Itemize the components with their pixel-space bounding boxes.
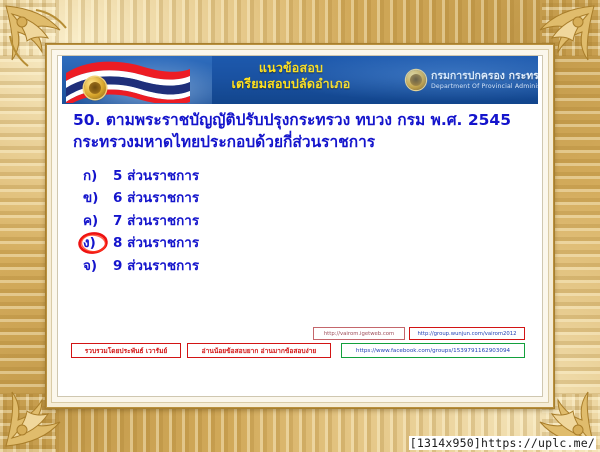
answer-choice-key: ข) xyxy=(83,192,103,206)
answer-choice-key: จ) xyxy=(83,260,103,274)
answer-choice-label: 7 ส่วนราชการ xyxy=(113,215,199,229)
department-seal-icon xyxy=(406,70,426,90)
thai-flag-icon xyxy=(64,57,192,103)
department-name-english: Department Of Provincial Administration xyxy=(431,83,538,90)
link-box-website[interactable]: http://vairom.igetweb.com xyxy=(313,327,405,340)
answer-choice[interactable]: จ) 9 ส่วนราชการ xyxy=(83,255,513,278)
answer-choice[interactable]: ก) 5 ส่วนราชการ xyxy=(83,165,513,188)
answer-choice-list: ก) 5 ส่วนราชการ ข) 6 ส่วนราชการ ค) 7 ส่ว… xyxy=(83,165,513,278)
banner-title: แนวข้อสอบ เตรียมสอบปลัดอำเภอ xyxy=(180,60,402,92)
answer-choice-key: ง) xyxy=(83,237,103,251)
answer-choice-key: ค) xyxy=(83,215,103,229)
answer-choice[interactable]: ข) 6 ส่วนราชการ xyxy=(83,188,513,211)
link-box-facebook[interactable]: https://www.facebook.com/groups/15397911… xyxy=(341,343,525,358)
answer-choice-label: 5 ส่วนราชการ xyxy=(113,170,199,184)
department-block: กรมการปกครอง กระทรวงมหาดไทย Department O… xyxy=(406,62,538,98)
answer-choice-key: ก) xyxy=(83,170,103,184)
slogan-box: อ่านน้อยข้อสอบยาก อ่านมากข้อสอบง่าย xyxy=(187,343,331,358)
credit-box: รวบรวมโดยประพันธ์ เวารัมย์ xyxy=(71,343,181,358)
answer-choice-selected[interactable]: ง) 8 ส่วนราชการ xyxy=(83,233,513,256)
exam-slide: แนวข้อสอบ เตรียมสอบปลัดอำเภอ กรมการปกครอ… xyxy=(57,55,543,397)
department-text: กรมการปกครอง กระทรวงมหาดไทย Department O… xyxy=(431,70,538,90)
image-watermark: [1314x950]https://uplc.me/ xyxy=(409,436,596,450)
answer-choice[interactable]: ค) 7 ส่วนราชการ xyxy=(83,210,513,233)
picture-frame: แนวข้อสอบ เตรียมสอบปลัดอำเภอ กรมการปกครอ… xyxy=(0,0,600,452)
link-box-group[interactable]: http://group.wunjun.com/vairom2012 xyxy=(409,327,525,340)
banner-title-line1: แนวข้อสอบ xyxy=(180,60,402,76)
question-text: 50. ตามพระราชบัญญัติปรับปรุงกระทรวง ทบวง… xyxy=(73,109,525,153)
garuda-seal-icon xyxy=(84,77,106,99)
answer-choice-label: 8 ส่วนราชการ xyxy=(113,237,199,251)
department-name-thai: กรมการปกครอง กระทรวงมหาดไทย xyxy=(431,70,538,82)
slide-banner: แนวข้อสอบ เตรียมสอบปลัดอำเภอ กรมการปกครอ… xyxy=(62,56,538,104)
answer-choice-label: 9 ส่วนราชการ xyxy=(113,260,199,274)
answer-choice-label: 6 ส่วนราชการ xyxy=(113,192,199,206)
banner-title-line2: เตรียมสอบปลัดอำเภอ xyxy=(180,76,402,92)
